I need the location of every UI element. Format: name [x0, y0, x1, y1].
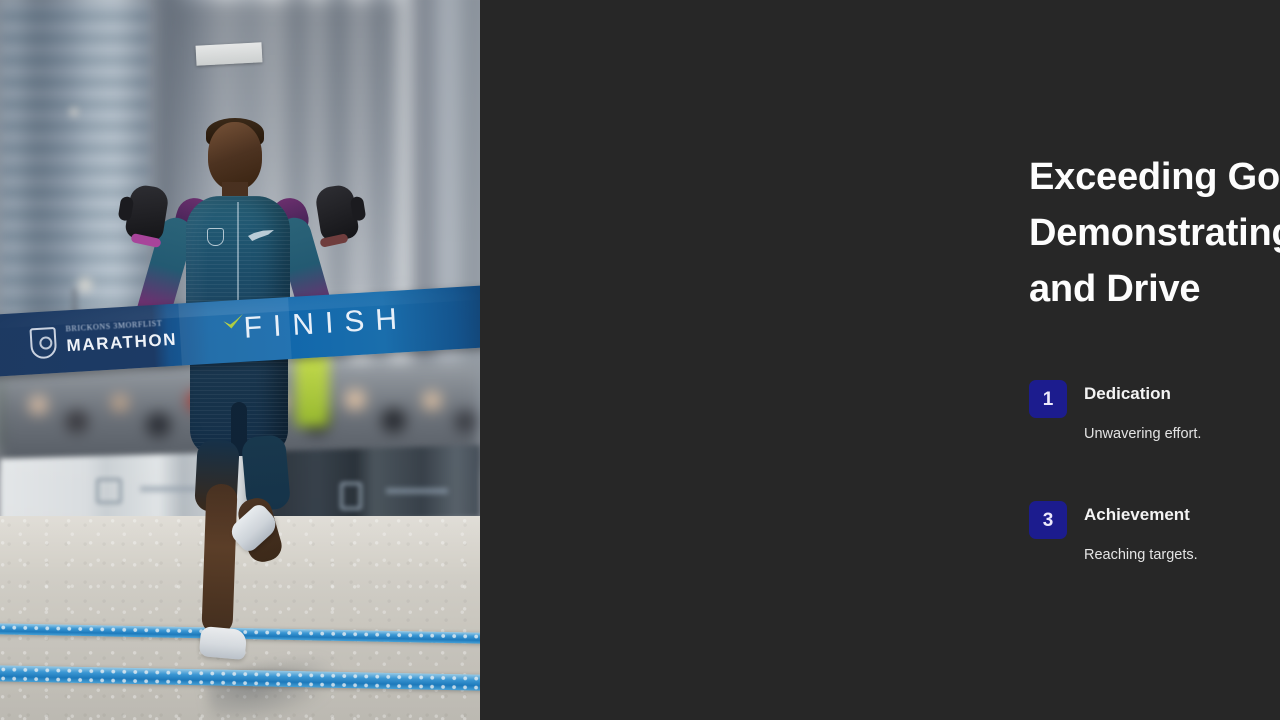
glass-facade: [0, 0, 150, 330]
event-name: MARATHON: [66, 330, 178, 357]
point-number-badge: 3: [1029, 501, 1067, 539]
marathon-shield-icon: [29, 327, 57, 359]
street-light-icon: [78, 278, 92, 292]
sponsor-text: [386, 488, 448, 494]
sponsor-logo-icon: [340, 482, 362, 510]
point-number-badge: 1: [1029, 380, 1067, 418]
runner-shoe-left: [199, 626, 247, 660]
runner-head: [208, 122, 262, 190]
page-title: Exceeding Goals Demonstrating Demonstrat…: [1029, 150, 1280, 318]
point-description: Unwavering effort.: [1084, 425, 1201, 444]
green-flag: [295, 352, 329, 427]
point-description: Reaching targets.: [1084, 546, 1198, 565]
street-light-icon: [70, 108, 78, 116]
presentation-slide: BRICKONS 3MORFLIST MARATHON FINISH Excee…: [0, 0, 1280, 720]
point-title: Achievement: [1084, 504, 1198, 525]
points-row-2: 3 Achievement Reaching targets.: [1029, 501, 1280, 622]
team-crest-icon: [207, 228, 224, 246]
race-bib: [196, 42, 263, 65]
runner-leg-left: [201, 484, 237, 635]
list-item: 1 Dedication Unwavering effort.: [1029, 380, 1280, 444]
content-pane: Exceeding Goals Demonstrating Demonstrat…: [480, 0, 1280, 720]
key-points-list: 1 Dedication Unwavering effort. 2 Resili…: [1029, 380, 1280, 622]
suit-zipper: [237, 202, 239, 302]
marathon-runner-photo: BRICKONS 3MORFLIST MARATHON FINISH: [0, 0, 480, 720]
list-item: 3 Achievement Reaching targets.: [1029, 501, 1280, 565]
sponsor-logo-icon: [96, 478, 122, 504]
hero-image-pane: BRICKONS 3MORFLIST MARATHON FINISH: [0, 0, 480, 720]
point-title: Dedication: [1084, 383, 1201, 404]
points-row-1: 1 Dedication Unwavering effort. 2 Resili…: [1029, 380, 1280, 501]
